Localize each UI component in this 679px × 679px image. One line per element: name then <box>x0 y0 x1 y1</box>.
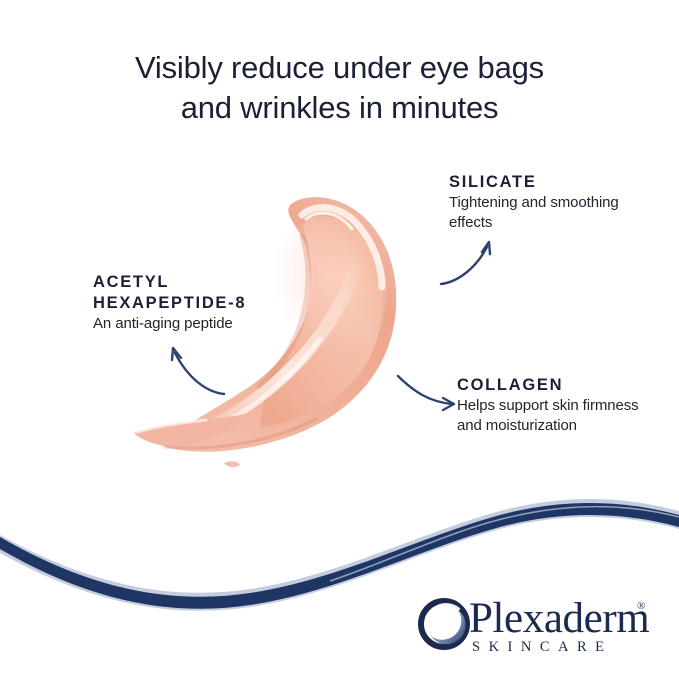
annotation-silicate-body: Tightening and smoothing effects <box>449 193 619 232</box>
annotation-collagen-body: Helps support skin firmness and moisturi… <box>457 396 639 435</box>
swatch-droplet <box>224 461 240 467</box>
headline-line-2: and wrinkles in minutes <box>0 88 679 128</box>
annotation-collagen: COLLAGEN Helps support skin firmness and… <box>457 375 639 435</box>
annotation-acetyl-body-line-1: An anti-aging peptide <box>93 314 278 334</box>
annotation-acetyl-title-line-1: ACETYL <box>93 272 278 293</box>
brand-logo: Plexaderm ® SKINCARE <box>418 596 663 658</box>
annotation-silicate-title: SILICATE <box>449 172 619 193</box>
annotation-acetyl-title-line-2: HEXAPEPTIDE-8 <box>93 293 278 314</box>
page-title: Visibly reduce under eye bags and wrinkl… <box>0 48 679 128</box>
plexaderm-crescent-mark <box>418 598 470 650</box>
product-infographic: Visibly reduce under eye bags and wrinkl… <box>0 0 679 679</box>
annotation-acetyl-body: An anti-aging peptide <box>93 314 278 334</box>
arrow-silicate-icon <box>441 242 490 284</box>
annotation-silicate-body-line-1: Tightening and smoothing <box>449 193 619 213</box>
logo-tagline: SKINCARE <box>472 639 613 656</box>
annotation-collagen-body-line-1: Helps support skin firmness <box>457 396 639 416</box>
logo-wordmark: Plexaderm <box>469 596 649 642</box>
annotation-silicate: SILICATE Tightening and smoothing effect… <box>449 172 619 232</box>
annotation-acetyl: ACETYL HEXAPEPTIDE-8 An anti-aging pepti… <box>93 272 278 334</box>
annotation-silicate-body-line-2: effects <box>449 213 619 233</box>
headline-line-1: Visibly reduce under eye bags <box>0 48 679 88</box>
wave-dark-band <box>0 503 679 609</box>
annotation-collagen-title: COLLAGEN <box>457 375 639 396</box>
annotation-collagen-body-line-2: and moisturization <box>457 416 639 436</box>
logo-registered-mark: ® <box>637 601 645 612</box>
